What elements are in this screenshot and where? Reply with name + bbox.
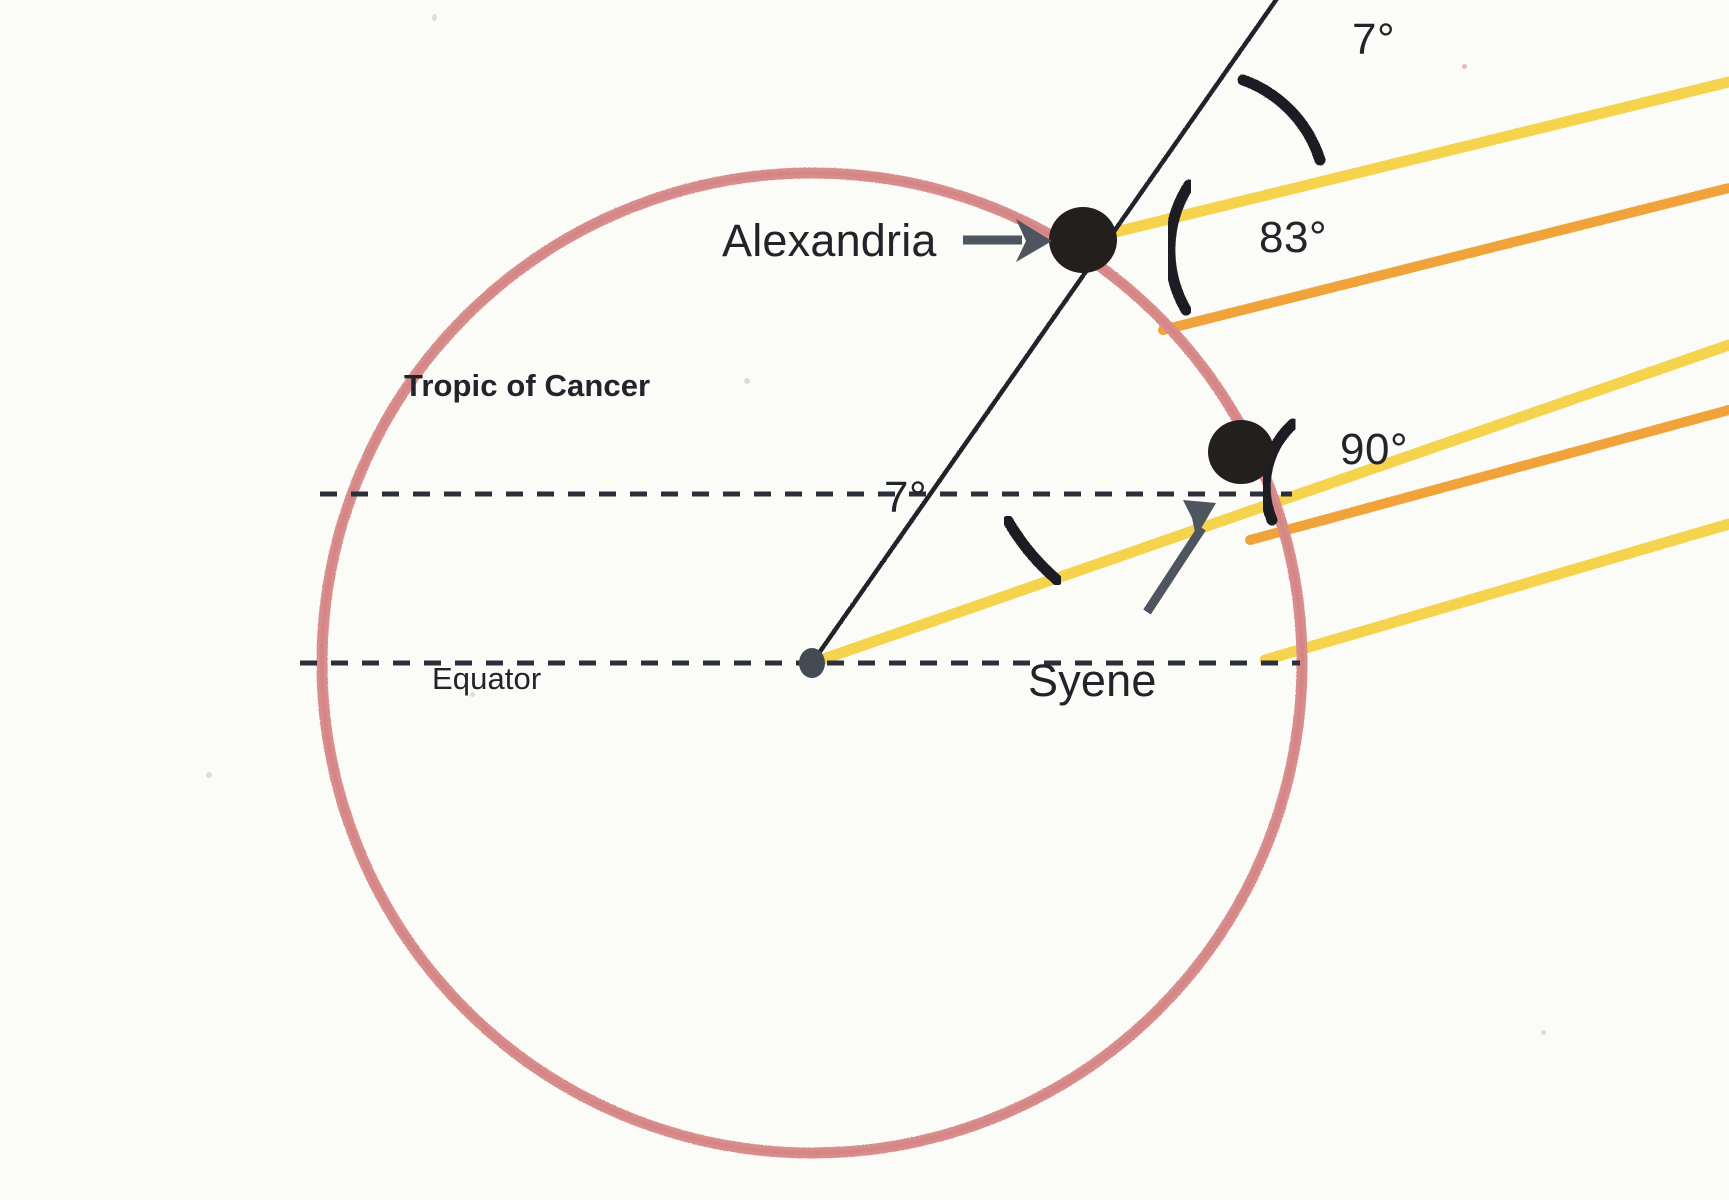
tropic-of-cancer-label: Tropic of Cancer [404,370,650,401]
angle-arc-7-center [1008,521,1057,580]
sun-ray-orange-upper [1163,188,1729,330]
syene-label: Syene [1028,658,1157,703]
angle-label-83: 83° [1259,216,1327,260]
earth-center-dot [799,648,825,678]
angle-arc-83 [1170,185,1189,310]
alexandria-dot [1049,207,1117,273]
sun-ray-bottom [1265,524,1729,660]
diagram-svg [0,0,1729,1200]
angle-label-90: 90° [1340,428,1408,472]
alexandria-label: Alexandria [722,218,937,263]
angle-label-7-top: 7° [1352,18,1395,62]
syene-dot [1208,420,1274,484]
equator-label: Equator [432,663,541,694]
angle-arc-7-top [1243,80,1320,160]
syene-pointer-arrow [1147,500,1216,612]
radius-to-alexandria-line [812,0,1290,663]
angle-label-7-center: 7° [884,476,927,520]
diagram-canvas: Alexandria Syene Tropic of Cancer Equato… [0,0,1729,1200]
